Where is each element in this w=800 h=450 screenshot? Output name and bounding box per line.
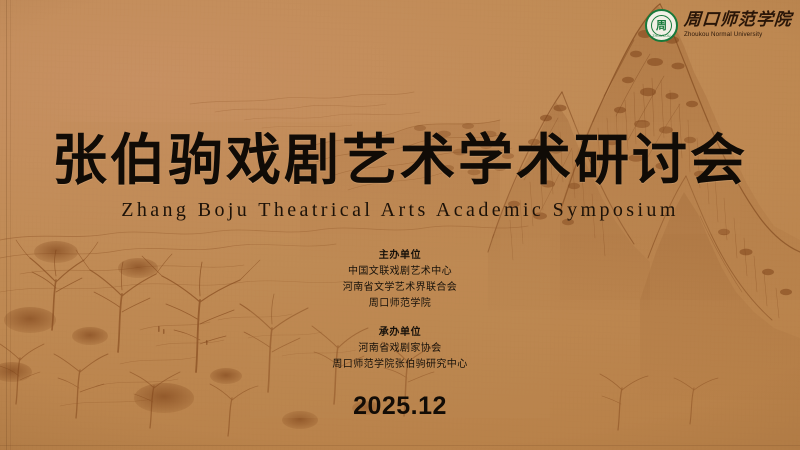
logo-english-name: Zhoukou Normal University [684,32,792,38]
organizer-unit: 中国文联戏剧艺术中心 [0,264,800,280]
logo-wordmark: 周口师范学院 Zhoukou Normal University [684,12,792,39]
seal-glyph: 周 [656,20,667,31]
university-seal-icon: 周 ZHOUKOU [645,9,678,42]
organizer-group-host: 主办单位 中国文联戏剧艺术中心 河南省文学艺术界联合会 周口师范学院 [0,248,800,312]
organizer-role-label: 主办单位 [0,248,800,264]
seal-arc-text: ZHOUKOU [652,34,670,38]
organizer-group-co-host: 承办单位 河南省戏剧家协会 周口师范学院张伯驹研究中心 [0,325,800,373]
organizer-unit: 周口师范学院 [0,296,800,312]
organizers-block: 主办单位 中国文联戏剧艺术中心 河南省文学艺术界联合会 周口师范学院 承办单位 … [0,248,800,373]
page-title-english: Zhang Boju Theatrical Arts Academic Symp… [0,199,800,222]
vignette-overlay [0,0,800,450]
logo-chinese-name: 周口师范学院 [683,12,792,29]
poster-canvas: 周 ZHOUKOU 周口师范学院 Zhoukou Normal Universi… [0,0,800,450]
organizer-unit: 河南省戏剧家协会 [0,341,800,357]
organizer-unit: 周口师范学院张伯驹研究中心 [0,357,800,373]
organizer-role-label: 承办单位 [0,325,800,341]
event-date: 2025.12 [0,392,800,421]
zhoukou-normal-university-logo[interactable]: 周 ZHOUKOU 周口师范学院 Zhoukou Normal Universi… [645,9,792,42]
page-title-chinese: 张伯驹戏剧艺术学术研讨会 [0,128,800,192]
title-block: 张伯驹戏剧艺术学术研讨会 Zhang Boju Theatrical Arts … [0,128,800,222]
organizer-unit: 河南省文学艺术界联合会 [0,280,800,296]
